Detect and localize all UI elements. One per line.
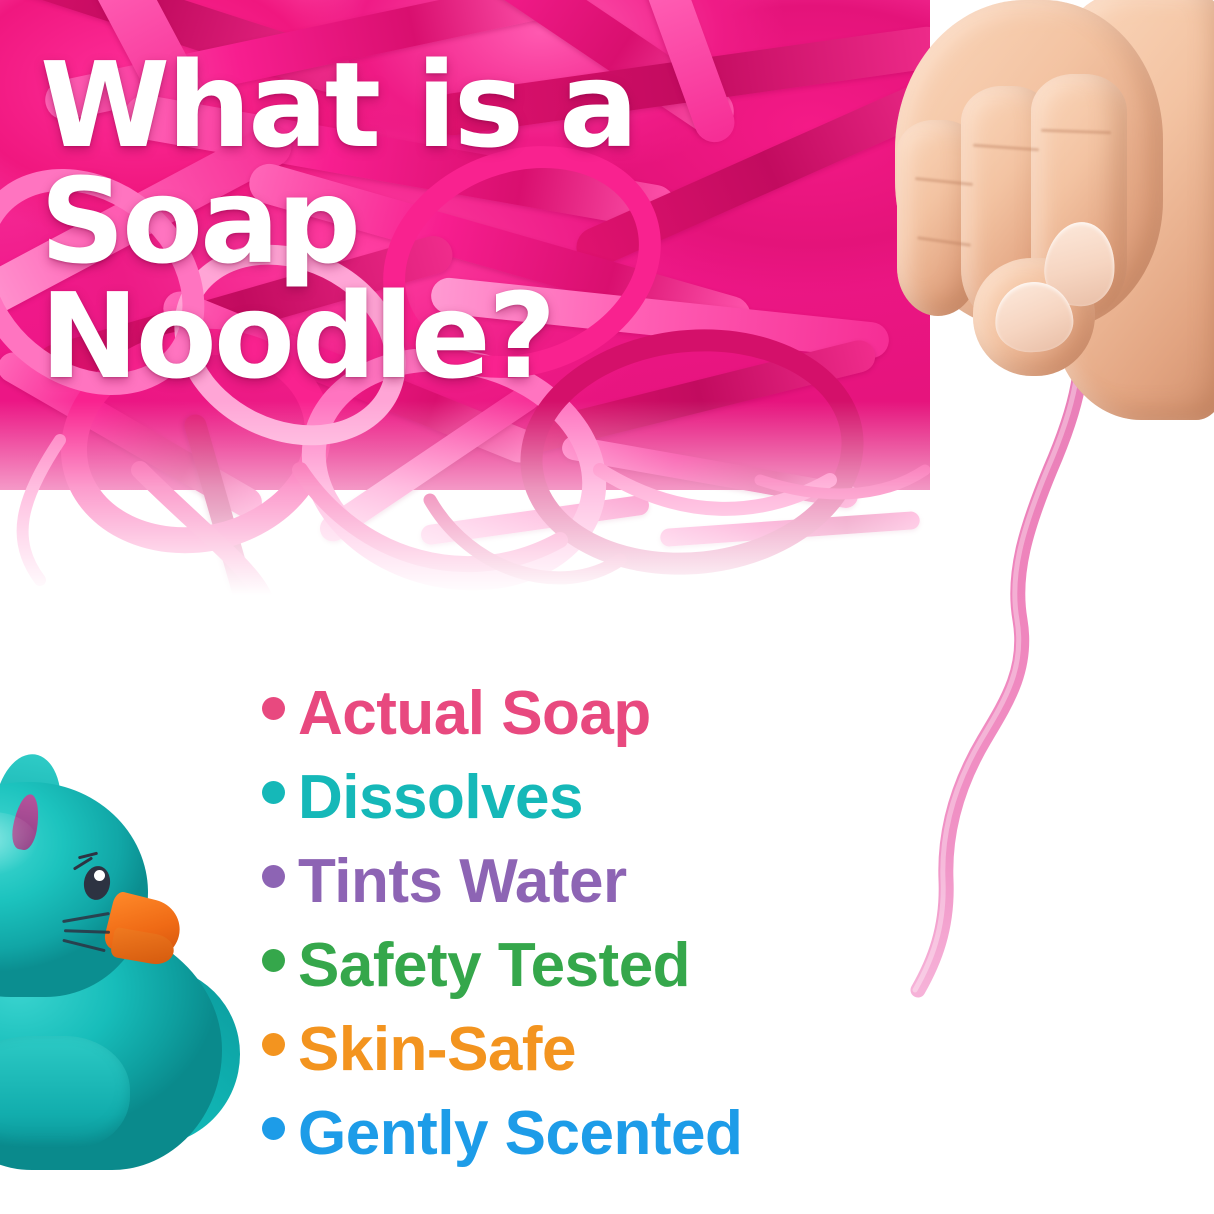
- list-item: Actual Soap: [262, 672, 982, 756]
- feature-label: Dissolves: [298, 756, 583, 840]
- list-item: Safety Tested: [262, 924, 982, 1008]
- feature-label: Gently Scented: [298, 1092, 742, 1176]
- feature-label: Actual Soap: [298, 672, 651, 756]
- feature-label: Skin-Safe: [298, 1008, 576, 1092]
- feature-label: Tints Water: [298, 840, 627, 924]
- feature-list: Actual Soap Dissolves Tints Water Safety…: [262, 672, 982, 1176]
- page-title: What is a Soap Noodle?: [40, 48, 870, 395]
- bullet-dot-icon: [262, 1117, 285, 1140]
- list-item: Gently Scented: [262, 1092, 982, 1176]
- feature-label: Safety Tested: [298, 924, 690, 1008]
- page-title-line2: Soap Noodle?: [40, 164, 870, 395]
- hand-image: [855, 0, 1214, 460]
- bullet-dot-icon: [262, 697, 285, 720]
- bullet-dot-icon: [262, 781, 285, 804]
- toy-wing: [0, 1036, 130, 1148]
- list-item: Dissolves: [262, 756, 982, 840]
- infographic-canvas: What is a Soap Noodle?: [0, 0, 1214, 1214]
- list-item: Tints Water: [262, 840, 982, 924]
- list-item: Skin-Safe: [262, 1008, 982, 1092]
- bullet-dot-icon: [262, 865, 285, 888]
- bullet-dot-icon: [262, 949, 285, 972]
- bath-toy-image: [0, 770, 242, 1170]
- bullet-dot-icon: [262, 1033, 285, 1056]
- toy-eye-highlight: [94, 870, 105, 881]
